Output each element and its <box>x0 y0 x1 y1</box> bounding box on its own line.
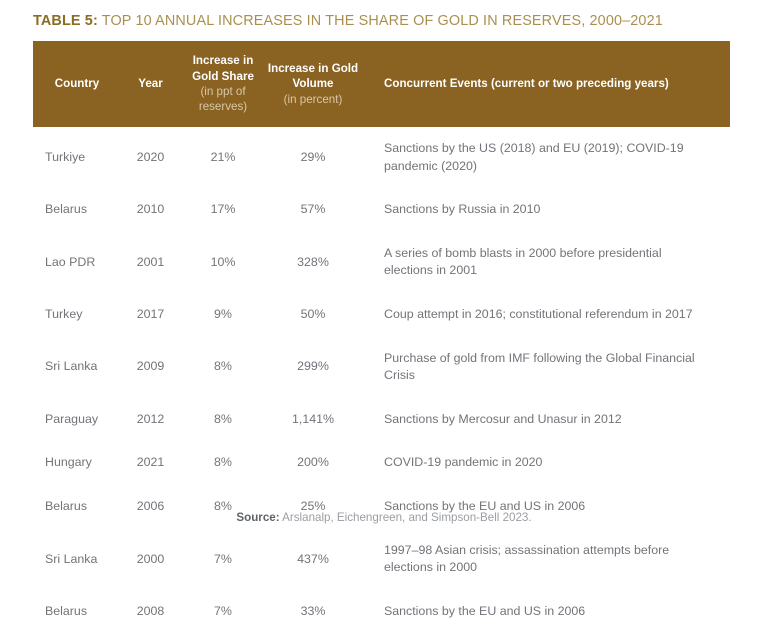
cell-year: 2008 <box>121 590 180 634</box>
cell-events: COVID-19 pandemic in 2020 <box>360 441 730 485</box>
cell-country: Lao PDR <box>33 232 121 293</box>
cell-country: Sri Lanka <box>33 529 121 590</box>
table-header: Country Year Increase in Gold Share (in … <box>33 41 730 127</box>
column-header-events: Concurrent Events (current or two preced… <box>360 41 730 127</box>
table-row: Lao PDR200110%328%A series of bomb blast… <box>33 232 730 293</box>
cell-gold-share: 8% <box>180 441 266 485</box>
cell-country: Turkey <box>33 293 121 337</box>
column-header-gold-share: Increase in Gold Share (in ppt of reserv… <box>180 41 266 127</box>
cell-year: 2012 <box>121 398 180 442</box>
cell-country: Sri Lanka <box>33 337 121 398</box>
column-header-country: Country <box>33 41 121 127</box>
cell-country: Turkiye <box>33 127 121 188</box>
table-row: Sri Lanka20007%437%1997–98 Asian crisis;… <box>33 529 730 590</box>
cell-year: 2001 <box>121 232 180 293</box>
cell-gold-volume: 57% <box>266 188 360 232</box>
cell-events: Sanctions by the US (2018) and EU (2019)… <box>360 127 730 188</box>
cell-gold-volume: 437% <box>266 529 360 590</box>
cell-gold-share: 7% <box>180 590 266 634</box>
cell-gold-volume: 1,141% <box>266 398 360 442</box>
table-row: Turkiye202021%29%Sanctions by the US (20… <box>33 127 730 188</box>
table-body: Turkiye202021%29%Sanctions by the US (20… <box>33 127 730 634</box>
cell-gold-volume: 200% <box>266 441 360 485</box>
cell-events: Purchase of gold from IMF following the … <box>360 337 730 398</box>
cell-gold-volume: 50% <box>266 293 360 337</box>
cell-gold-volume: 33% <box>266 590 360 634</box>
table-row: Turkey20179%50%Coup attempt in 2016; con… <box>33 293 730 337</box>
cell-year: 2021 <box>121 441 180 485</box>
data-table: Country Year Increase in Gold Share (in … <box>33 41 730 634</box>
cell-year: 2010 <box>121 188 180 232</box>
table-row: Hungary20218%200%COVID-19 pandemic in 20… <box>33 441 730 485</box>
table-header-row: Country Year Increase in Gold Share (in … <box>33 41 730 127</box>
source-text: Arslanalp, Eichengreen, and Simpson-Bell… <box>280 511 532 524</box>
cell-gold-share: 7% <box>180 529 266 590</box>
source-label: Source: <box>236 511 279 524</box>
table-row: Sri Lanka20098%299%Purchase of gold from… <box>33 337 730 398</box>
column-header-gold-share-unit: (in ppt of reserves) <box>180 84 266 115</box>
cell-year: 2000 <box>121 529 180 590</box>
cell-gold-share: 8% <box>180 398 266 442</box>
cell-country: Paraguay <box>33 398 121 442</box>
cell-year: 2020 <box>121 127 180 188</box>
table-row: Belarus201017%57%Sanctions by Russia in … <box>33 188 730 232</box>
column-header-gold-volume: Increase in Gold Volume (in percent) <box>266 41 360 127</box>
table-title-text: TOP 10 ANNUAL INCREASES IN THE SHARE OF … <box>102 13 663 29</box>
cell-events: Sanctions by the EU and US in 2006 <box>360 590 730 634</box>
cell-gold-volume: 29% <box>266 127 360 188</box>
cell-gold-share: 21% <box>180 127 266 188</box>
column-header-country-label: Country <box>33 76 121 91</box>
cell-gold-share: 8% <box>180 337 266 398</box>
page-title: TABLE 5: TOP 10 ANNUAL INCREASES IN THE … <box>33 13 663 29</box>
cell-gold-volume: 299% <box>266 337 360 398</box>
column-header-gold-volume-label: Increase in Gold Volume <box>266 61 360 92</box>
cell-gold-volume: 328% <box>266 232 360 293</box>
column-header-year-label: Year <box>121 76 180 91</box>
table-row: Paraguay20128%1,141%Sanctions by Mercosu… <box>33 398 730 442</box>
column-header-gold-share-label: Increase in Gold Share <box>180 53 266 84</box>
cell-gold-share: 9% <box>180 293 266 337</box>
table-page: TABLE 5: TOP 10 ANNUAL INCREASES IN THE … <box>0 0 768 533</box>
cell-year: 2009 <box>121 337 180 398</box>
cell-country: Belarus <box>33 590 121 634</box>
cell-events: A series of bomb blasts in 2000 before p… <box>360 232 730 293</box>
cell-events: Sanctions by Mercosur and Unasur in 2012 <box>360 398 730 442</box>
table-row: Belarus20087%33%Sanctions by the EU and … <box>33 590 730 634</box>
cell-events: Coup attempt in 2016; constitutional ref… <box>360 293 730 337</box>
cell-country: Belarus <box>33 188 121 232</box>
table-number-label: TABLE 5: <box>33 13 98 29</box>
column-header-gold-volume-unit: (in percent) <box>266 92 360 107</box>
cell-gold-share: 17% <box>180 188 266 232</box>
column-header-year: Year <box>121 41 180 127</box>
cell-gold-share: 10% <box>180 232 266 293</box>
cell-country: Hungary <box>33 441 121 485</box>
cell-year: 2017 <box>121 293 180 337</box>
cell-events: 1997–98 Asian crisis; assassination atte… <box>360 529 730 590</box>
cell-events: Sanctions by Russia in 2010 <box>360 188 730 232</box>
source-note: Source: Arslanalp, Eichengreen, and Simp… <box>0 510 768 525</box>
table-container: Country Year Increase in Gold Share (in … <box>33 41 730 634</box>
column-header-events-label: Concurrent Events (current or two preced… <box>384 76 720 91</box>
